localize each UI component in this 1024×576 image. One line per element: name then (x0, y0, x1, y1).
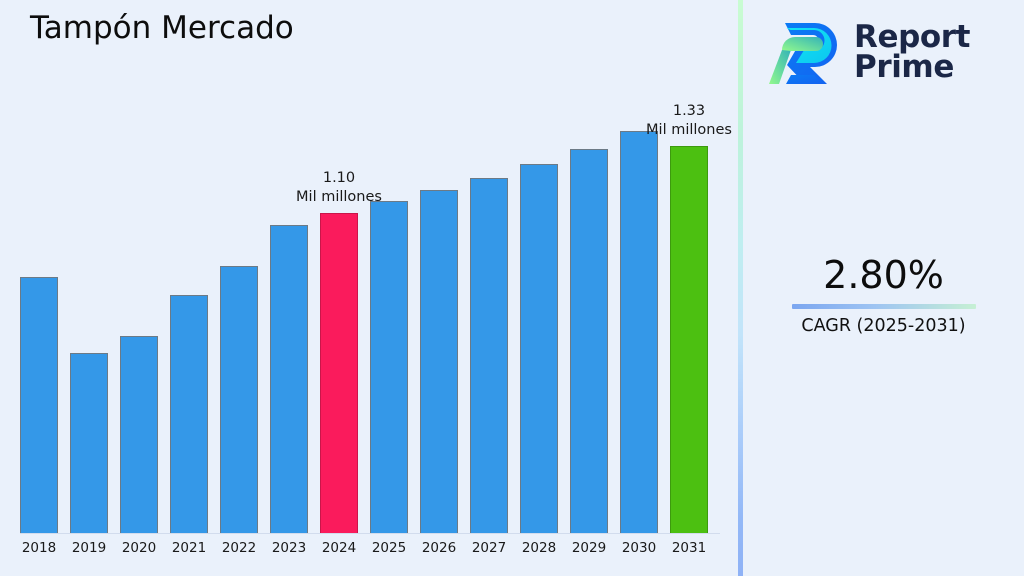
x-axis-baseline (20, 533, 720, 534)
cagr-value: 2.80% (743, 252, 1024, 298)
report-prime-logo-icon (769, 18, 841, 86)
brand-name: Report Prime (854, 22, 970, 83)
bar-2019[interactable] (70, 353, 108, 534)
brand-name-line2: Prime (854, 52, 970, 82)
cagr-caption: CAGR (2025-2031) (743, 314, 1024, 338)
bar-2025[interactable] (370, 201, 408, 534)
x-tick-2031: 2031 (659, 540, 719, 556)
bar-2028[interactable] (520, 164, 558, 534)
chart-area: 1.10Mil millones1.33Mil millones 2018201… (0, 0, 738, 576)
bar-value-2024: 1.10 (264, 169, 414, 188)
bar-2029[interactable] (570, 149, 608, 534)
bar-2027[interactable] (470, 178, 508, 534)
bar-2022[interactable] (220, 266, 258, 534)
bar-2020[interactable] (120, 336, 158, 534)
bar-2024[interactable] (320, 213, 358, 534)
bar-2031[interactable] (670, 146, 708, 534)
slide-root: Tampón Mercado 1.10Mil millones1.33Mil m… (0, 0, 1024, 576)
cagr-block: 2.80% CAGR (2025-2031) (743, 252, 1024, 338)
bar-2018[interactable] (20, 277, 58, 534)
cagr-divider (792, 304, 976, 309)
right-panel: Report Prime 2.80% CAGR (2025-2031) (743, 0, 1024, 576)
brand-logo: Report Prime (769, 12, 1001, 92)
bar-2030[interactable] (620, 131, 658, 534)
bar-2026[interactable] (420, 190, 458, 534)
bar-2021[interactable] (170, 295, 208, 534)
bar-chart-plot: 1.10Mil millones1.33Mil millones (0, 110, 738, 534)
bar-2023[interactable] (270, 225, 308, 534)
x-axis-tick-labels: 2018201920202021202220232024202520262027… (0, 540, 738, 568)
